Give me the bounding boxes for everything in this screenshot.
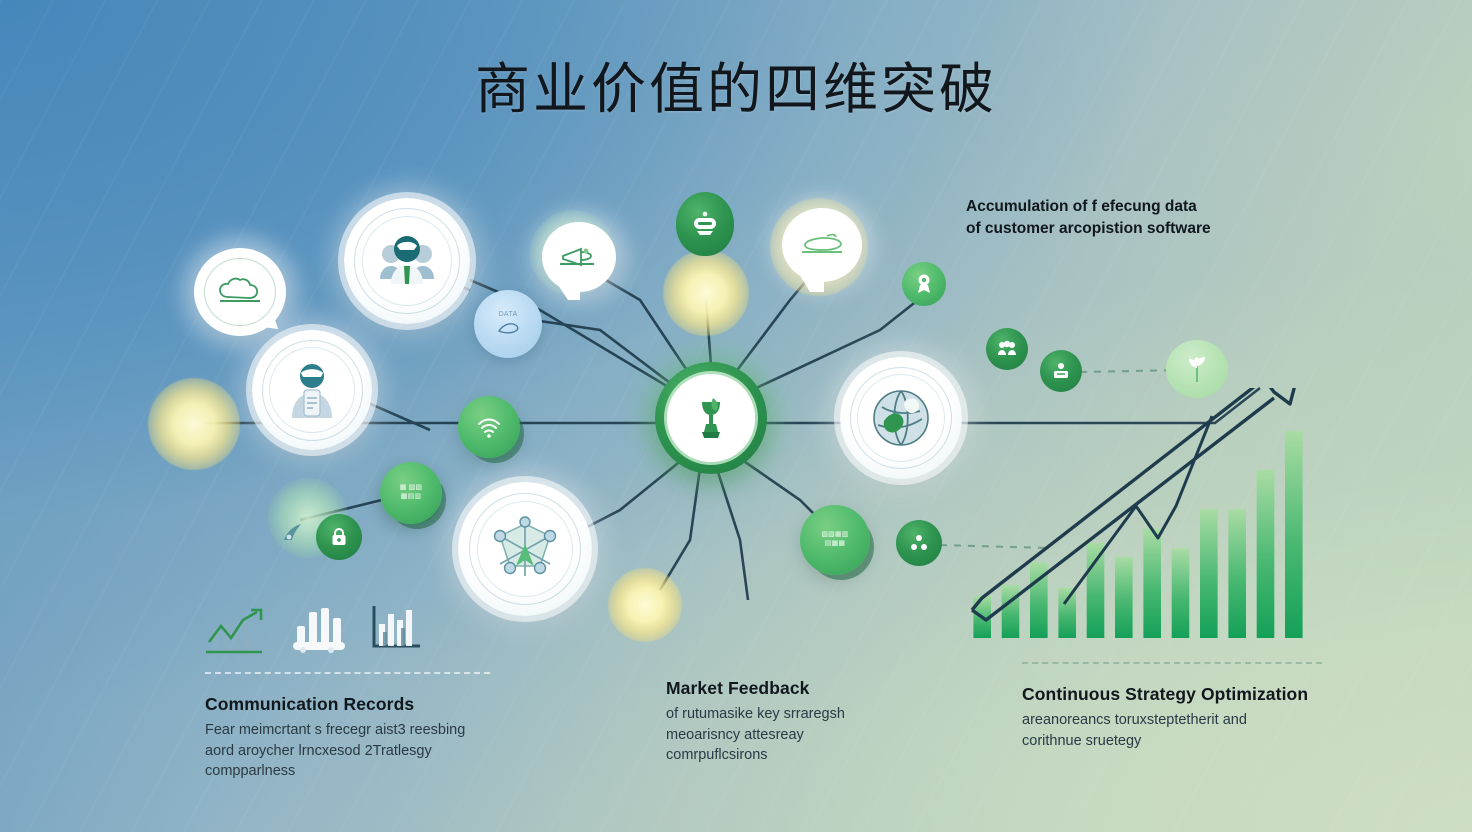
network-graph-node[interactable] bbox=[458, 482, 592, 616]
lock-icon bbox=[329, 526, 349, 548]
bar bbox=[1285, 431, 1303, 638]
trophy-chalice-icon bbox=[691, 396, 731, 440]
tree-growth-icon bbox=[1183, 354, 1211, 384]
label-blob-upper-text: ▦ ▧▨▩▤▥ bbox=[397, 484, 426, 502]
top-right-annotation: Accumulation of f efecung data of custom… bbox=[966, 196, 1211, 240]
megaphone-icon bbox=[558, 244, 600, 270]
caption-heading: Continuous Strategy Optimization bbox=[1022, 684, 1322, 705]
cloud-icon bbox=[216, 277, 264, 307]
cloud-bubble-node[interactable] bbox=[194, 248, 286, 336]
spark-mark-left bbox=[280, 520, 306, 549]
glow-orb-left bbox=[148, 378, 240, 470]
team-group-icon bbox=[375, 232, 439, 290]
bar-series bbox=[973, 431, 1302, 638]
award-icon bbox=[915, 273, 933, 295]
announce-bubble-node[interactable] bbox=[782, 208, 862, 282]
annotation-line-2: of customer arcopistion software bbox=[966, 218, 1211, 240]
globe-network-node[interactable] bbox=[840, 357, 962, 479]
caption-continuous-strategy-optimization: Continuous Strategy Optimization areanor… bbox=[1022, 662, 1322, 751]
caption-market-feedback: Market Feedback of rutumasike key srrare… bbox=[666, 672, 926, 766]
award-node[interactable] bbox=[902, 262, 946, 306]
caption-heading: Communication Records bbox=[205, 694, 490, 715]
spark-icon bbox=[280, 520, 306, 544]
presenter-icon bbox=[1051, 362, 1071, 380]
line-chart-icon bbox=[203, 606, 267, 658]
glow-orb-top bbox=[663, 250, 749, 336]
tag-icon bbox=[497, 322, 519, 334]
people-group-node[interactable] bbox=[986, 328, 1028, 370]
caption-heading: Market Feedback bbox=[666, 678, 926, 699]
caption-divider bbox=[1022, 662, 1322, 664]
column-chart-icon bbox=[367, 602, 423, 654]
bar bbox=[1058, 588, 1076, 638]
label-blob-right[interactable]: ▨▧▦▥▤▩▦ bbox=[800, 505, 870, 575]
bar bbox=[1143, 529, 1161, 638]
infographic-canvas: 商业价值的四维突破 bbox=[0, 0, 1472, 832]
team-group-node[interactable] bbox=[344, 198, 470, 324]
glow-orb-bottom bbox=[608, 568, 682, 642]
bar bbox=[1087, 543, 1105, 638]
presenter-node[interactable] bbox=[1040, 350, 1082, 392]
community-icon bbox=[909, 534, 929, 552]
blue-tag-label: DATA bbox=[497, 311, 519, 320]
bar-chart-svg bbox=[968, 388, 1308, 640]
caption-body: Fear meimcrtant s frecegr aist3 reesbing… bbox=[205, 720, 475, 782]
caption-communication-records: Communication Records Fear meimcrtant s … bbox=[205, 672, 490, 782]
megaphone-bubble-node[interactable] bbox=[542, 222, 616, 292]
label-blob-upper[interactable]: ▦ ▧▨▩▤▥ bbox=[380, 462, 442, 524]
caption-body: areanoreancs toruxsteptetherit and corit… bbox=[1022, 710, 1272, 751]
wifi-signal-node[interactable] bbox=[458, 396, 520, 458]
bar-chart-icon bbox=[291, 602, 347, 654]
globe-icon bbox=[868, 385, 934, 451]
caption-divider bbox=[205, 672, 490, 674]
chat-bot-icon bbox=[690, 211, 720, 237]
community-node[interactable] bbox=[896, 520, 942, 566]
bar-chart-glyph bbox=[291, 602, 347, 659]
bar bbox=[1172, 548, 1190, 638]
lock-node[interactable] bbox=[316, 514, 362, 560]
caption-body: of rutumasike key srraregsh meoarisncy a… bbox=[666, 704, 876, 766]
growth-arrow-icon bbox=[972, 388, 1302, 620]
bar bbox=[1002, 585, 1020, 638]
profile-person-node[interactable] bbox=[252, 330, 372, 450]
wifi-icon bbox=[476, 416, 502, 438]
bar bbox=[1228, 509, 1246, 638]
network-nodes-icon bbox=[488, 514, 562, 584]
blue-tag-node[interactable]: DATA bbox=[474, 290, 542, 358]
bar bbox=[1200, 509, 1218, 638]
label-blob-right-text: ▨▧▦▥▤▩▦ bbox=[818, 531, 851, 549]
annotation-line-1: Accumulation of f efecung data bbox=[966, 196, 1211, 218]
central-hub-node[interactable] bbox=[655, 362, 767, 474]
line-chart-glyph bbox=[203, 606, 267, 663]
trend-zigzag-line bbox=[1064, 416, 1212, 604]
bar bbox=[1257, 470, 1275, 638]
people-group-icon bbox=[997, 340, 1017, 358]
bar bbox=[1115, 557, 1133, 638]
person-card-icon bbox=[282, 360, 342, 420]
balloon-chat-node[interactable] bbox=[676, 192, 734, 256]
growth-tree-node[interactable] bbox=[1166, 340, 1228, 398]
growth-bar-chart bbox=[968, 388, 1308, 640]
announcement-icon bbox=[799, 231, 845, 259]
mixed-chart-glyph bbox=[367, 602, 423, 659]
